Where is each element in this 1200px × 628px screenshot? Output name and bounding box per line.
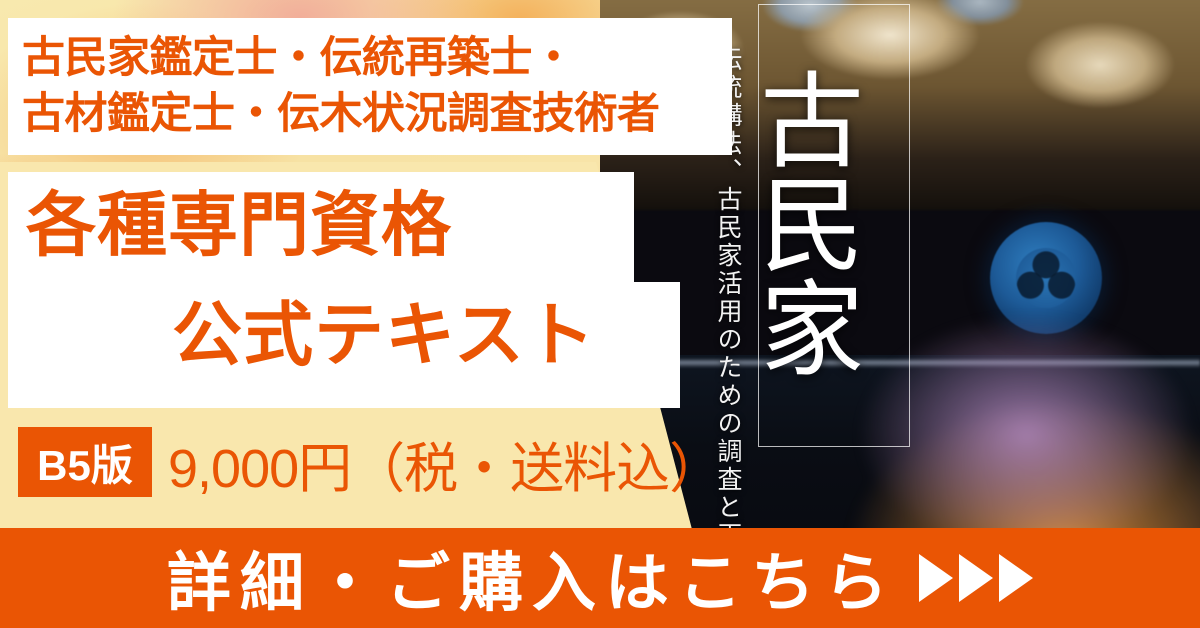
triangle-right-icon <box>959 554 993 602</box>
size-badge: B5版 <box>18 427 152 497</box>
cta-label: 詳細・ご購入はこちら <box>167 532 897 624</box>
qualifications-line-1: 古民家鑑定士・伝統再築士・ <box>22 31 732 86</box>
qualifications-card: 古民家鑑定士・伝統再築士・ 古材鑑定士・伝木状況調査技術者 <box>8 18 732 155</box>
qualifications-text: 古民家鑑定士・伝統再築士・ 古材鑑定士・伝木状況調査技術者 <box>8 18 732 155</box>
headline-line-1: 各種専門資格 <box>26 190 452 260</box>
qualifications-line-2: 古材鑑定士・伝木状況調査技術者 <box>22 87 732 142</box>
price-label: 9,000円（税・送料込） <box>168 428 722 498</box>
promo-banner: 古民家 伝統構法、古民家活用のための調査と再生の 古民家鑑定士・伝統再築士・ 古… <box>0 0 1200 628</box>
cta-arrows <box>919 554 1033 602</box>
triangle-right-icon <box>999 554 1033 602</box>
triangle-right-icon <box>919 554 953 602</box>
cover-title: 古民家 <box>760 10 910 445</box>
cta-bar[interactable]: 詳細・ご購入はこちら <box>0 528 1200 628</box>
headline-line-2: 公式テキスト <box>172 300 596 370</box>
